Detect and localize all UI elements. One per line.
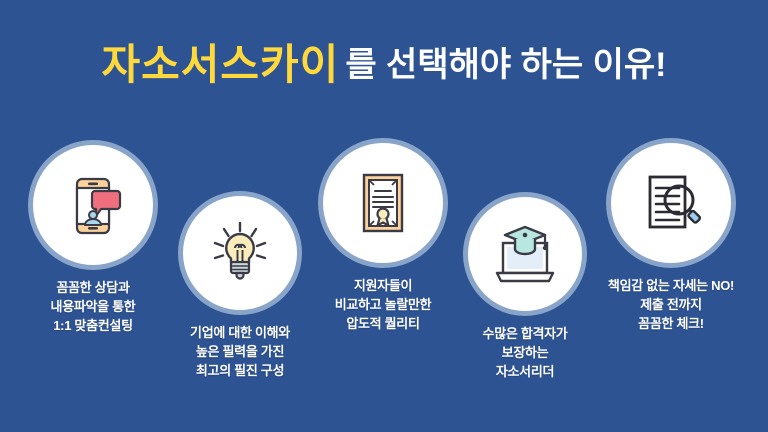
feature-icon-circle-5 [611,143,731,263]
feature-icon-circle-4 [468,197,582,311]
caption-line: 꼼꼼한 체크! [576,315,766,334]
title-suffix: 를 선택해야 하는 이유! [345,46,666,84]
feature-icon-circle-2 [183,196,297,310]
promo-poster: 자소서스카이를 선택해야 하는 이유! 꼼꼼한 상담과 내용파악을 통한 1:1… [0,0,768,432]
caption-line: 최고의 필진 구성 [145,362,335,381]
feature-item-5: 책임감 없는 자세는 NO! 제출 전까지 꼼꼼한 체크! [576,143,766,334]
feature-caption-5: 책임감 없는 자세는 NO! 제출 전까지 꼼꼼한 체크! [576,277,766,334]
laptop-graduation-cap-icon [488,217,562,291]
caption-line: 제출 전까지 [576,296,766,315]
feature-icon-circle-3 [323,143,443,263]
caption-line: 보장하는 [430,344,620,363]
caption-line: 높은 필력을 가진 [145,343,335,362]
smartphone-chat-icon [57,169,129,241]
lightbulb-icon [204,217,276,289]
document-magnifier-icon [635,167,707,239]
certificate-icon [347,167,419,239]
brand-name: 자소서스카이 [101,41,339,88]
page-title: 자소서스카이를 선택해야 하는 이유! [0,44,768,86]
caption-line: 책임감 없는 자세는 NO! [576,277,766,296]
feature-icon-circle-1 [33,145,153,265]
caption-line: 자소서리더 [430,363,620,382]
